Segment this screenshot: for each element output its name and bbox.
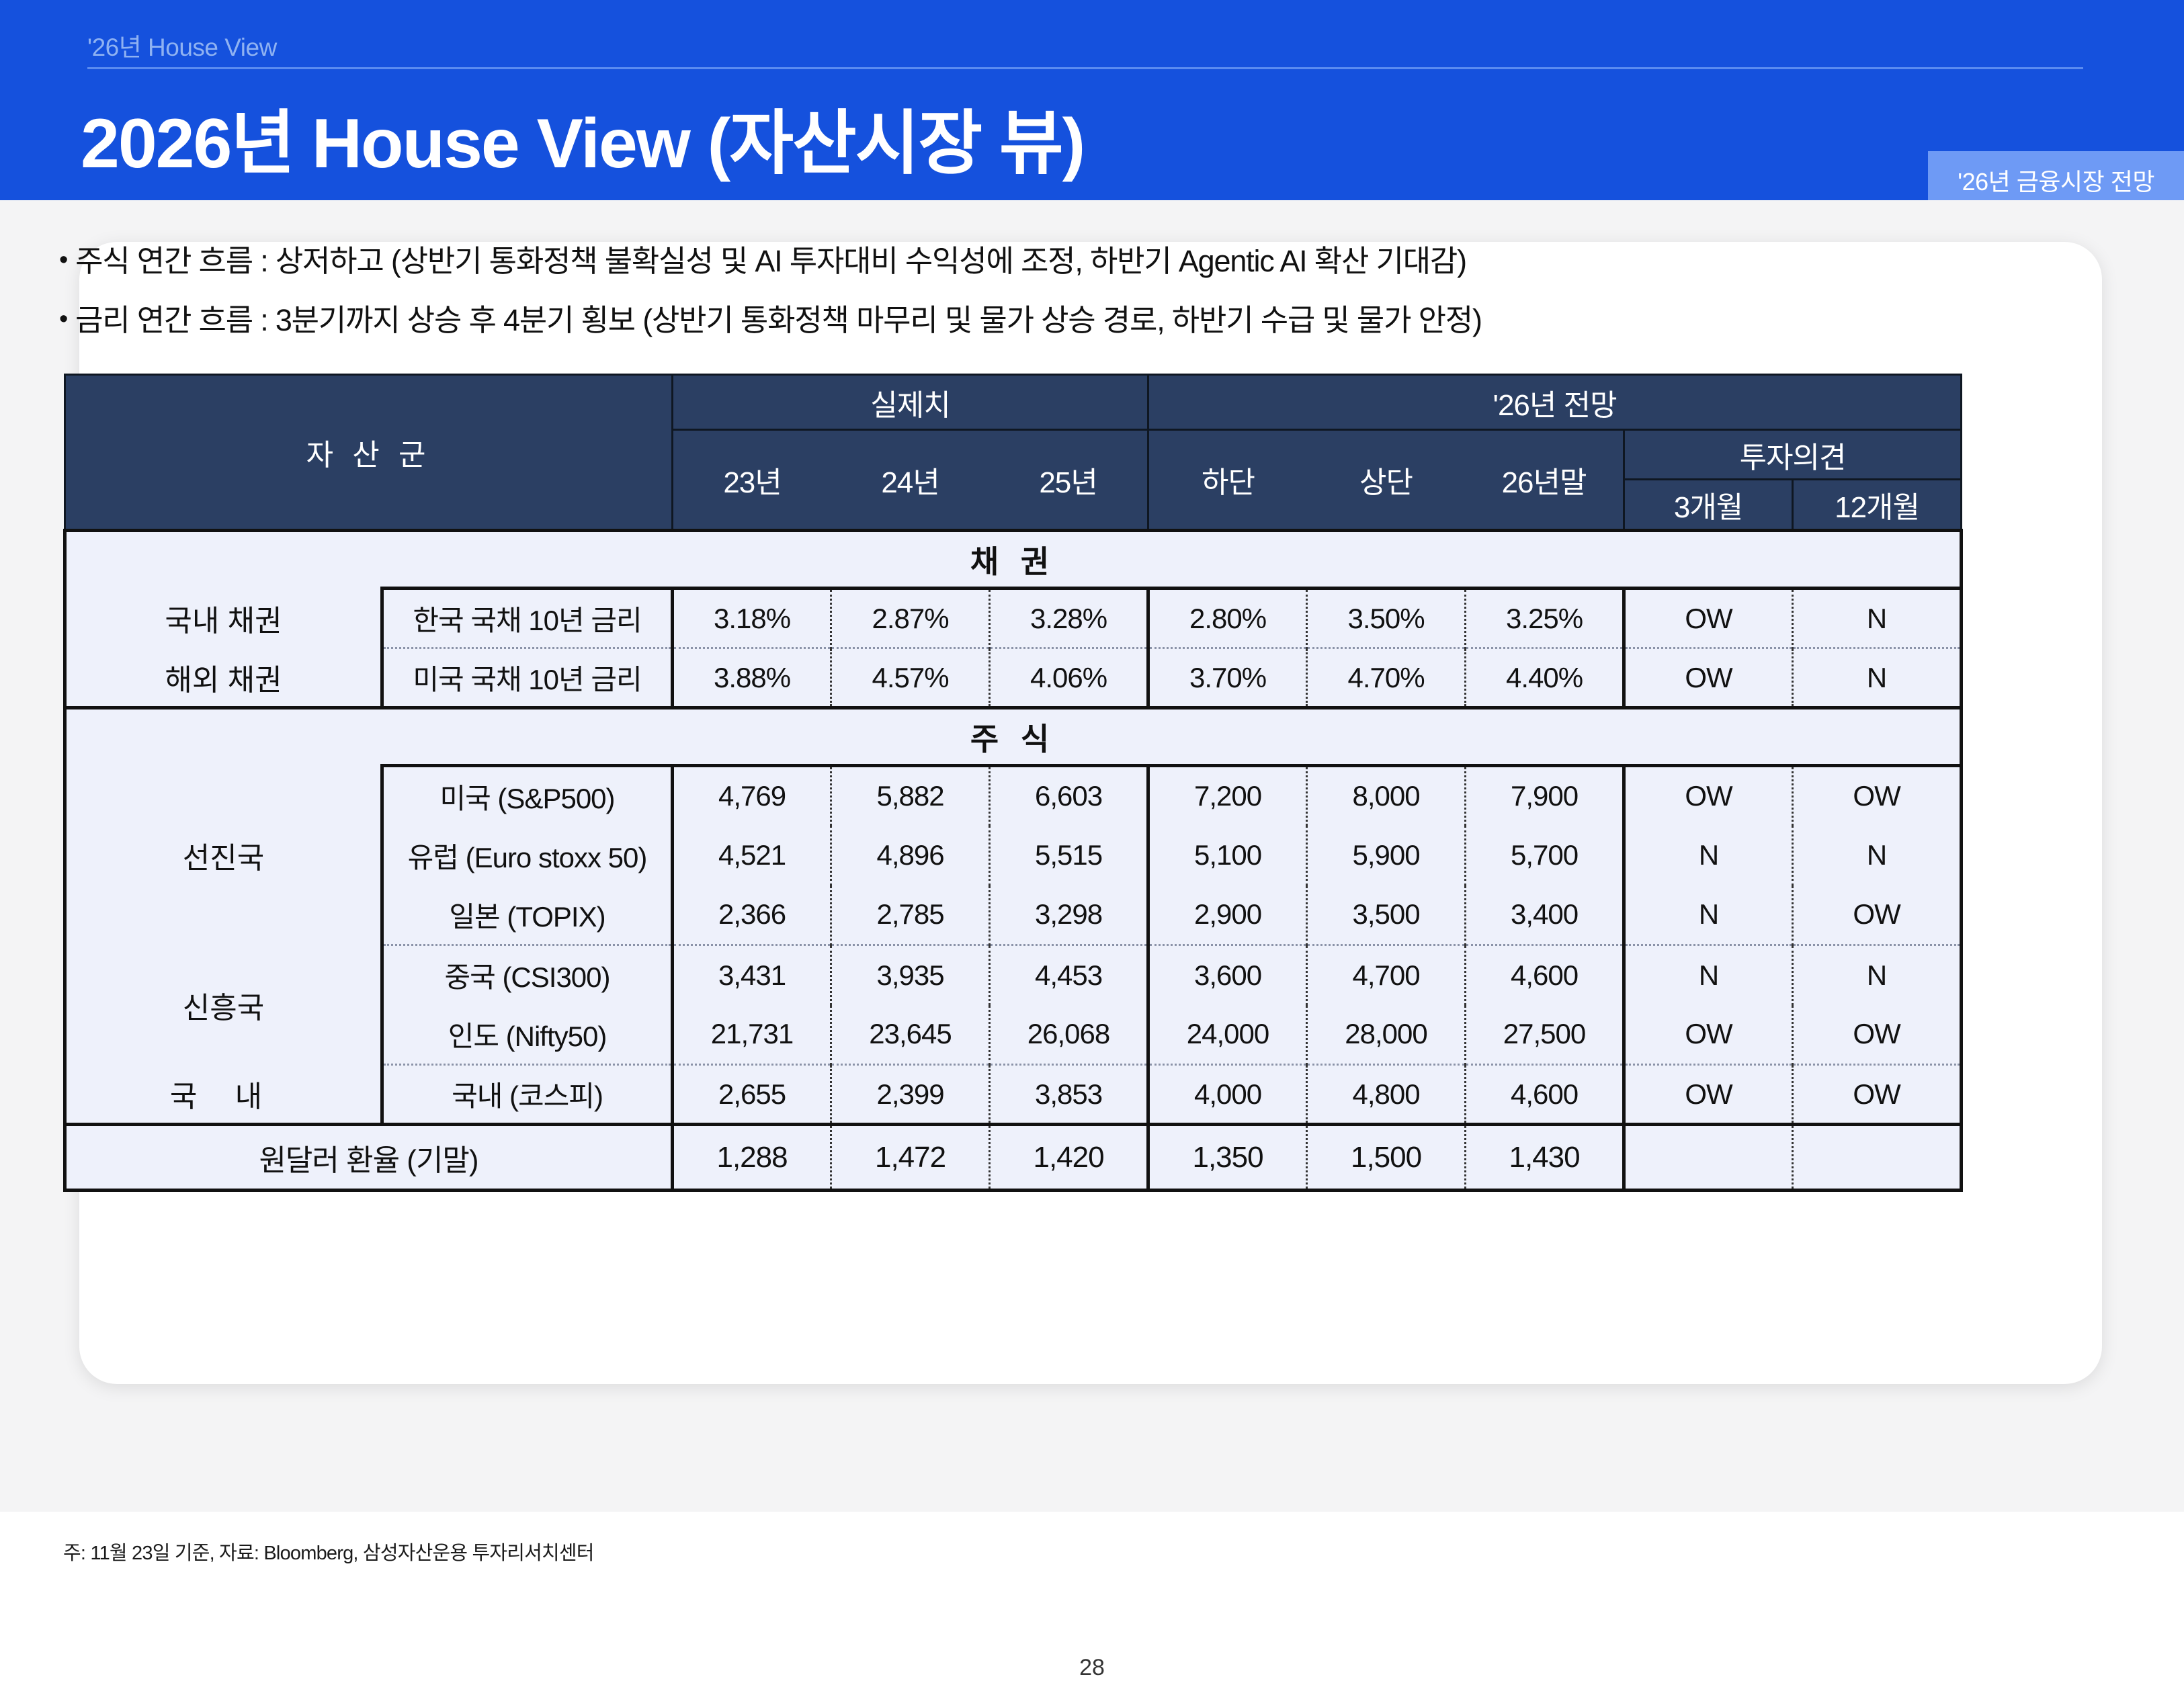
cell-opinion-3m: OW <box>1624 766 1793 826</box>
page-title: 2026년 House View (자산시장 뷰) <box>81 86 1084 187</box>
cell-opinion-3m: OW <box>1624 589 1793 648</box>
cell-low: 3.70% <box>1148 648 1307 708</box>
cell-opinion-3m: OW <box>1624 1005 1793 1065</box>
cell-low: 2.80% <box>1148 589 1307 648</box>
cell-low: 24,000 <box>1148 1005 1307 1065</box>
cell-y24: 1,472 <box>831 1125 990 1191</box>
fx-label: 원달러 환율 (기말) <box>65 1125 673 1191</box>
bullet-dot: • <box>59 301 67 338</box>
th-opinion-3m: 3개월 <box>1624 480 1793 531</box>
th-actual-group: 실제치 <box>673 375 1148 430</box>
th-year-24: 24년 <box>831 458 989 501</box>
breadcrumb: '26년 House View <box>87 27 277 63</box>
cell-low: 1,350 <box>1148 1125 1307 1191</box>
cell-y24: 2,785 <box>831 886 990 945</box>
header-divider <box>87 67 2083 69</box>
row-name: 국내 (코스피) <box>382 1065 673 1125</box>
cell-y23: 2,366 <box>673 886 831 945</box>
cell-opinion-3m: N <box>1624 826 1793 886</box>
cell-opinion-3m: OW <box>1624 648 1793 708</box>
cell-opinion-12m: N <box>1793 648 1962 708</box>
category-label: 채 권 <box>65 531 1962 589</box>
row-name: 한국 국채 10년 금리 <box>382 589 673 648</box>
th-low: 하단 <box>1149 458 1307 501</box>
cell-low: 5,100 <box>1148 826 1307 886</box>
th-year-23-24-25-wrap: 23년 24년 25년 <box>673 430 1148 531</box>
th-eoy: 26년말 <box>1465 458 1623 501</box>
category-row-bond: 채 권 <box>65 531 1962 589</box>
table-row: 국내 채권 한국 국채 10년 금리 3.18% 2.87% 3.28% 2.8… <box>65 589 1962 648</box>
row-name: 유럽 (Euro stoxx 50) <box>382 826 673 886</box>
cell-low: 2,900 <box>1148 886 1307 945</box>
row-name: 인도 (Nifty50) <box>382 1005 673 1065</box>
cell-high: 1,500 <box>1307 1125 1466 1191</box>
row-name: 중국 (CSI300) <box>382 945 673 1005</box>
cell-y23: 3.18% <box>673 589 831 648</box>
th-opinion-group: 투자의견 <box>1624 430 1962 480</box>
table-row: 신흥국 중국 (CSI300) 3,431 3,935 4,453 3,600 … <box>65 945 1962 1005</box>
th-forecast-cols-wrap: 하단 상단 26년말 <box>1148 430 1624 531</box>
cell-y25: 3,853 <box>990 1065 1148 1125</box>
cell-opinion-3m: OW <box>1624 1065 1793 1125</box>
cell-opinion-12m: OW <box>1793 766 1962 826</box>
page-number: 28 <box>0 1655 2184 1681</box>
row-subcategory: 국내 채권 <box>65 589 382 648</box>
th-asset-group: 자 산 군 <box>65 375 673 531</box>
table-row-fx: 원달러 환율 (기말) 1,288 1,472 1,420 1,350 1,50… <box>65 1125 1962 1191</box>
cell-y25: 26,068 <box>990 1005 1148 1065</box>
house-view-table: 자 산 군 실제치 '26년 전망 23년 24년 25년 하단 상단 26 <box>63 374 1963 1192</box>
cell-opinion-12m: OW <box>1793 1005 1962 1065</box>
cell-y25: 1,420 <box>990 1125 1148 1191</box>
th-year-25: 25년 <box>989 458 1147 501</box>
cell-y24: 4.57% <box>831 648 990 708</box>
cell-eoy: 4,600 <box>1466 1065 1624 1125</box>
cell-opinion-3m: N <box>1624 945 1793 1005</box>
th-forecast-group: '26년 전망 <box>1148 375 1962 430</box>
bullet-list: • 주식 연간 흐름 : 상저하고 (상반기 통화정책 불확실성 및 AI 투자… <box>59 242 1968 359</box>
table-body: 채 권 국내 채권 한국 국채 10년 금리 3.18% 2.87% 3.28%… <box>65 531 1962 1191</box>
bullet-dot: • <box>59 242 67 279</box>
source-note: 주: 11월 23일 기준, 자료: Bloomberg, 삼성자산운용 투자리… <box>63 1537 594 1565</box>
cell-y23: 21,731 <box>673 1005 831 1065</box>
cell-low: 3,600 <box>1148 945 1307 1005</box>
cell-y23: 2,655 <box>673 1065 831 1125</box>
cell-eoy: 4,600 <box>1466 945 1624 1005</box>
cell-eoy: 7,900 <box>1466 766 1624 826</box>
cell-y23: 3.88% <box>673 648 831 708</box>
cell-opinion-3m: N <box>1624 886 1793 945</box>
cell-y24: 2.87% <box>831 589 990 648</box>
cell-eoy: 1,430 <box>1466 1125 1624 1191</box>
cell-eoy: 3,400 <box>1466 886 1624 945</box>
cell-y23: 3,431 <box>673 945 831 1005</box>
cell-y24: 3,935 <box>831 945 990 1005</box>
table-row: 해외 채권 미국 국채 10년 금리 3.88% 4.57% 4.06% 3.7… <box>65 648 1962 708</box>
row-subcategory: 국 내 <box>65 1065 382 1125</box>
row-name: 일본 (TOPIX) <box>382 886 673 945</box>
cell-low: 7,200 <box>1148 766 1307 826</box>
cell-y25: 5,515 <box>990 826 1148 886</box>
th-high: 상단 <box>1307 458 1465 501</box>
cell-y23: 4,521 <box>673 826 831 886</box>
cell-opinion-12m: OW <box>1793 1065 1962 1125</box>
cell-high: 8,000 <box>1307 766 1466 826</box>
list-item: • 금리 연간 흐름 : 3분기까지 상승 후 4분기 횡보 (상반기 통화정책… <box>59 301 1968 340</box>
bullet-text: 주식 연간 흐름 : 상저하고 (상반기 통화정책 불확실성 및 AI 투자대비… <box>75 242 1466 281</box>
cell-y25: 4.06% <box>990 648 1148 708</box>
cell-eoy: 27,500 <box>1466 1005 1624 1065</box>
cell-y23: 4,769 <box>673 766 831 826</box>
cell-eoy: 3.25% <box>1466 589 1624 648</box>
cell-low: 4,000 <box>1148 1065 1307 1125</box>
cell-y25: 4,453 <box>990 945 1148 1005</box>
category-row-equity: 주 식 <box>65 708 1962 766</box>
cell-high: 28,000 <box>1307 1005 1466 1065</box>
cell-opinion-12m: N <box>1793 826 1962 886</box>
cell-opinion-12m: N <box>1793 945 1962 1005</box>
list-item: • 주식 연간 흐름 : 상저하고 (상반기 통화정책 불확실성 및 AI 투자… <box>59 242 1968 281</box>
table-row: 국 내 국내 (코스피) 2,655 2,399 3,853 4,000 4,8… <box>65 1065 1962 1125</box>
cell-opinion-12m: OW <box>1793 886 1962 945</box>
cell-y25: 6,603 <box>990 766 1148 826</box>
row-name: 미국 국채 10년 금리 <box>382 648 673 708</box>
row-subcategory: 선진국 <box>65 766 382 945</box>
cell-opinion-12m: N <box>1793 589 1962 648</box>
cell-opinion-3m <box>1624 1125 1793 1191</box>
cell-high: 3,500 <box>1307 886 1466 945</box>
slide-body: • 주식 연간 흐름 : 상저하고 (상반기 통화정책 불확실성 및 AI 투자… <box>0 200 2184 1512</box>
table-head-row-1: 자 산 군 실제치 '26년 전망 <box>65 375 1962 430</box>
row-subcategory: 해외 채권 <box>65 648 382 708</box>
cell-y25: 3.28% <box>990 589 1148 648</box>
cell-high: 5,900 <box>1307 826 1466 886</box>
cell-y25: 3,298 <box>990 886 1148 945</box>
row-subcategory: 신흥국 <box>65 945 382 1065</box>
cell-y24: 2,399 <box>831 1065 990 1125</box>
table-head: 자 산 군 실제치 '26년 전망 23년 24년 25년 하단 상단 26 <box>65 375 1962 531</box>
cell-high: 4,700 <box>1307 945 1466 1005</box>
cell-y24: 5,882 <box>831 766 990 826</box>
cell-high: 4.70% <box>1307 648 1466 708</box>
cell-y24: 23,645 <box>831 1005 990 1065</box>
category-label: 주 식 <box>65 708 1962 766</box>
bullet-text: 금리 연간 흐름 : 3분기까지 상승 후 4분기 횡보 (상반기 통화정책 마… <box>75 301 1482 340</box>
table-row: 선진국 미국 (S&P500) 4,769 5,882 6,603 7,200 … <box>65 766 1962 826</box>
cell-high: 4,800 <box>1307 1065 1466 1125</box>
cell-y23: 1,288 <box>673 1125 831 1191</box>
th-opinion-12m: 12개월 <box>1793 480 1962 531</box>
th-year-23: 23년 <box>673 458 831 501</box>
cell-eoy: 4.40% <box>1466 648 1624 708</box>
row-name: 미국 (S&P500) <box>382 766 673 826</box>
cell-opinion-12m <box>1793 1125 1962 1191</box>
cell-high: 3.50% <box>1307 589 1466 648</box>
cell-eoy: 5,700 <box>1466 826 1624 886</box>
cell-y24: 4,896 <box>831 826 990 886</box>
slide-header: '26년 House View 2026년 House View (자산시장 뷰… <box>0 0 2184 200</box>
